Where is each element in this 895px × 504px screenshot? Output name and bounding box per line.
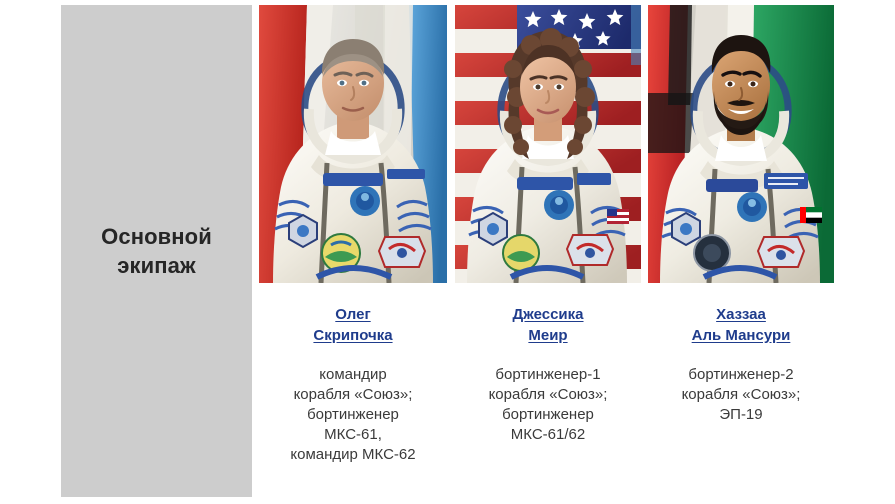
crew-name-link-almansoori[interactable]: Хаззаа Аль Мансури	[648, 305, 834, 346]
crew-member-card: Джессика Меир бортинженер-1 корабля «Сою…	[455, 5, 641, 499]
crew-role-meir: бортинженер-1 корабля «Союз»; бортинжене…	[455, 365, 641, 445]
crew-photo-almansoori	[648, 5, 834, 283]
crew-category-panel: Основной экипаж	[61, 5, 252, 497]
crew-role-skripochka: командир корабля «Союз»; бортинженер МКС…	[259, 365, 447, 465]
crew-member-card: Олег Скрипочка командир корабля «Союз»; …	[259, 5, 447, 499]
crew-name-link-meir[interactable]: Джессика Меир	[455, 305, 641, 346]
crew-role-almansoori: бортинженер-2 корабля «Союз»; ЭП-19	[648, 365, 834, 425]
crew-photo-meir	[455, 5, 641, 283]
crew-name-link-skripochka[interactable]: Олег Скрипочка	[259, 305, 447, 346]
crew-member-card: Хаззаа Аль Мансури бортинженер-2 корабля…	[648, 5, 834, 499]
slide-canvas: Основной экипаж	[0, 0, 895, 504]
crew-photo-skripochka	[259, 5, 447, 283]
crew-category-label: Основной экипаж	[101, 222, 212, 280]
